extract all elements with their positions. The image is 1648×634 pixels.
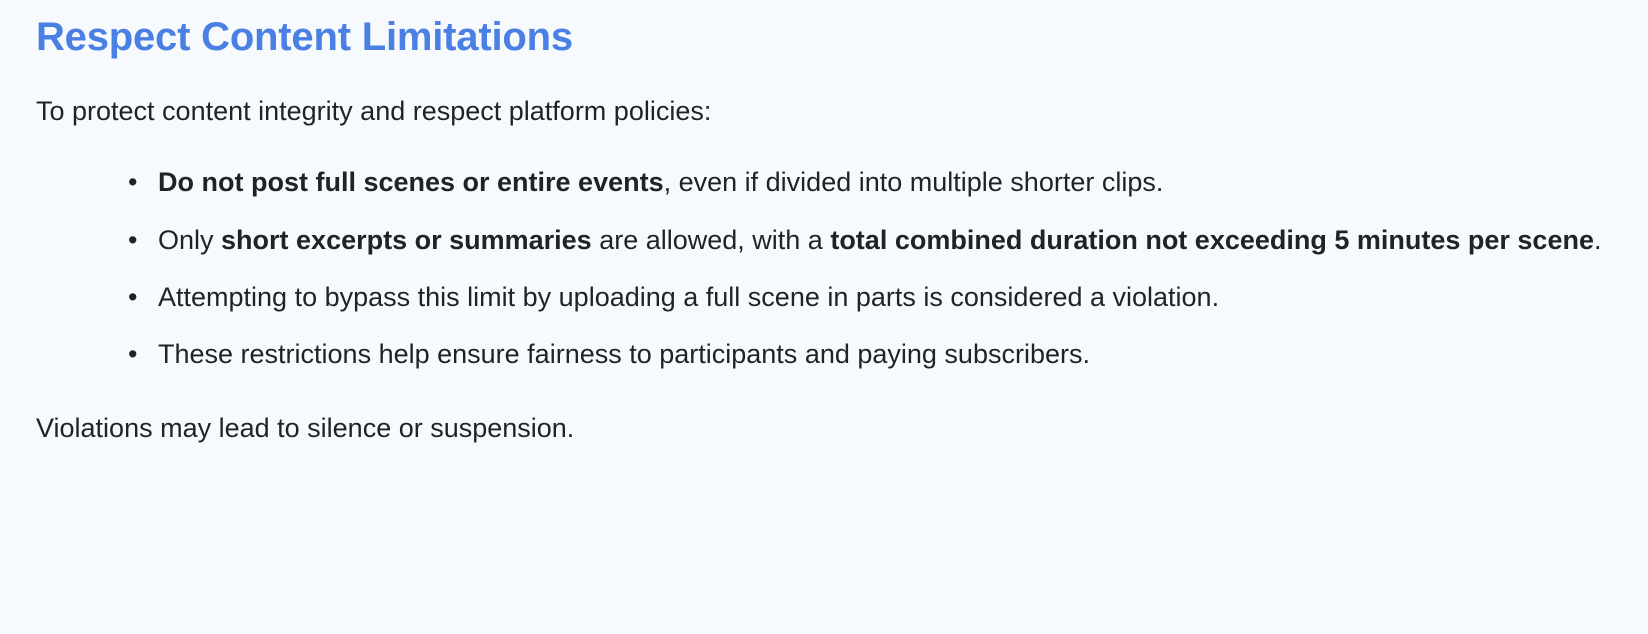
list-item: •Do not post full scenes or entire event… bbox=[36, 164, 1612, 201]
bullet-icon: • bbox=[128, 222, 137, 259]
emphasis-text: short excerpts or summaries bbox=[221, 225, 592, 255]
list-item-text: Do not post full scenes or entire events… bbox=[158, 167, 1163, 197]
bullet-icon: • bbox=[128, 336, 137, 373]
page-title: Respect Content Limitations bbox=[36, 0, 1612, 60]
emphasis-text: Do not post full scenes or entire events bbox=[158, 167, 664, 197]
body-text: are allowed, with a bbox=[592, 225, 831, 255]
list-item: •Attempting to bypass this limit by uplo… bbox=[36, 279, 1612, 316]
body-text: , even if divided into multiple shorter … bbox=[664, 167, 1164, 197]
list-item: •Only short excerpts or summaries are al… bbox=[36, 222, 1612, 259]
list-item: •These restrictions help ensure fairness… bbox=[36, 336, 1612, 373]
policy-list: •Do not post full scenes or entire event… bbox=[36, 129, 1612, 373]
body-text: Only bbox=[158, 225, 221, 255]
body-text: . bbox=[1594, 225, 1602, 255]
body-text: These restrictions help ensure fairness … bbox=[158, 339, 1090, 369]
intro-paragraph: To protect content integrity and respect… bbox=[36, 60, 1612, 129]
document-page: Respect Content Limitations To protect c… bbox=[0, 0, 1648, 634]
list-item-text: These restrictions help ensure fairness … bbox=[158, 339, 1090, 369]
list-item-text: Attempting to bypass this limit by uploa… bbox=[158, 282, 1219, 312]
body-text: Attempting to bypass this limit by uploa… bbox=[158, 282, 1219, 312]
emphasis-text: total combined duration not exceeding 5 … bbox=[830, 225, 1594, 255]
bullet-icon: • bbox=[128, 164, 137, 201]
closing-paragraph: Violations may lead to silence or suspen… bbox=[36, 373, 1612, 446]
list-item-text: Only short excerpts or summaries are all… bbox=[158, 225, 1602, 255]
bullet-icon: • bbox=[128, 279, 137, 316]
